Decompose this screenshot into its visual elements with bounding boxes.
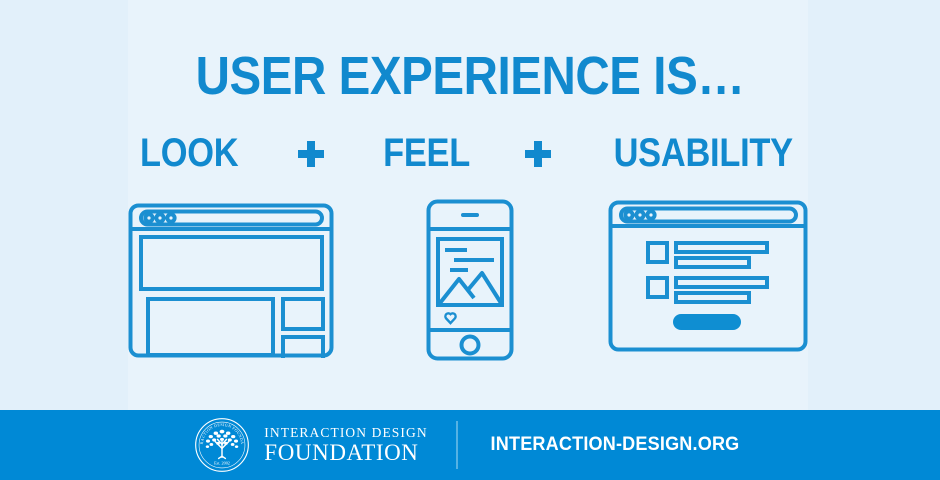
poster-canvas: USER EXPERIENCE IS… LOOK FEEL USABILITY bbox=[0, 0, 940, 480]
idf-tree-seal-logo: INTERACTION DESIGN FOUNDATION Est. 2002 bbox=[194, 417, 250, 473]
checkbox-1[interactable] bbox=[648, 243, 667, 262]
seal-established-text: Est. 2002 bbox=[214, 461, 230, 466]
window-dot-icon bbox=[156, 214, 163, 221]
window-dot-icon bbox=[145, 214, 152, 221]
illustration-desktop-browser-window bbox=[128, 203, 334, 358]
checkbox-1-text-line-1 bbox=[676, 243, 767, 252]
wordmark-line-1: INTERACTION DESIGN bbox=[264, 426, 427, 440]
formula-row: LOOK FEEL USABILITY bbox=[0, 131, 940, 176]
idf-wordmark: INTERACTION DESIGN FOUNDATION bbox=[264, 426, 427, 464]
plus-icon bbox=[280, 134, 342, 174]
submit-button[interactable] bbox=[673, 314, 741, 330]
home-button[interactable] bbox=[462, 337, 479, 354]
window-dot-icon bbox=[647, 211, 654, 218]
formula-term-look: LOOK bbox=[140, 131, 238, 176]
illustration-mobile-phone bbox=[426, 199, 514, 361]
window-dot-icon bbox=[167, 214, 174, 221]
footer-content: INTERACTION DESIGN FOUNDATION Est. 2002 … bbox=[194, 410, 745, 480]
formula-term-usability: USABILITY bbox=[614, 131, 793, 176]
formula-term-feel: FEEL bbox=[384, 131, 471, 176]
page-title: USER EXPERIENCE IS… bbox=[56, 48, 883, 105]
content-side-block-top bbox=[283, 299, 323, 329]
footer-bar: INTERACTION DESIGN FOUNDATION Est. 2002 … bbox=[0, 410, 940, 480]
checkbox-2-text-line-1 bbox=[676, 278, 767, 287]
plus-icon bbox=[507, 134, 569, 174]
heart-icon[interactable] bbox=[445, 313, 455, 323]
footer-divider bbox=[456, 421, 458, 469]
website-url[interactable]: INTERACTION-DESIGN.ORG bbox=[490, 434, 739, 456]
checkbox-1-text-line-2 bbox=[676, 258, 749, 267]
checkbox-2[interactable] bbox=[648, 278, 667, 297]
wordmark-line-2: FOUNDATION bbox=[264, 441, 427, 464]
checkbox-2-text-line-2 bbox=[676, 293, 749, 302]
window-dot-icon bbox=[625, 211, 632, 218]
illustration-form-browser-window bbox=[608, 200, 808, 352]
content-main-block bbox=[148, 299, 273, 355]
hero-block bbox=[141, 237, 322, 289]
window-dot-icon bbox=[636, 211, 643, 218]
